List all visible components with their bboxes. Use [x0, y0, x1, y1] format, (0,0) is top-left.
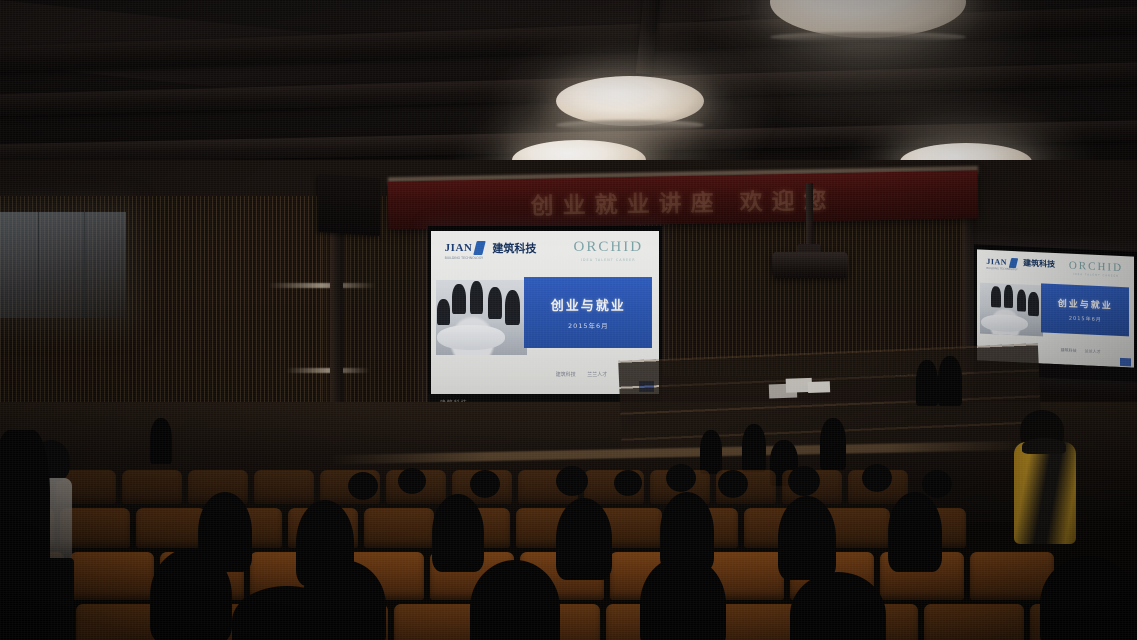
- slide-footer-side: 建筑科技 兰兰人才: [1037, 346, 1125, 356]
- jian-logo-side: JIAN 建筑科技 BUILDING TECHNOLOGY: [986, 256, 1055, 270]
- audience-person: [1040, 556, 1136, 640]
- orchid-logo: ORCHID IDEA TALENT CAREER: [574, 239, 644, 262]
- slide-footer-item: 兰兰人才: [587, 371, 607, 378]
- audience-head: [348, 472, 378, 500]
- person-silhouette: [938, 356, 962, 406]
- ceiling-projector: [772, 252, 848, 278]
- jian-logo-subtitle: BUILDING TECHNOLOGY: [986, 267, 1017, 271]
- audience-head: [556, 466, 588, 496]
- slide-footer-item: 建筑科技: [556, 371, 576, 378]
- jian-logo-mark-icon: [1009, 258, 1018, 268]
- audience-person: [150, 548, 232, 640]
- audience-head: [666, 464, 696, 492]
- stage-banner-text: 创业就业讲座 欢迎您: [388, 178, 979, 223]
- slide-date: 2015年6月: [568, 320, 609, 330]
- attendee-standing-right: [1006, 412, 1082, 562]
- attendee-standing-left-back: [0, 430, 50, 640]
- orchid-logo-word: ORCHID: [574, 239, 644, 256]
- person-silhouette: [820, 418, 846, 470]
- ceiling-light: [556, 76, 704, 126]
- orchid-logo-subtitle: IDEA TALENT CAREER: [574, 258, 644, 262]
- auditorium-photo: 创业就业讲座 欢迎您 JIAN 建筑科技 BUILDING TECHNOLOGY…: [0, 0, 1137, 640]
- slide-logo-row: JIAN 建筑科技 BUILDING TECHNOLOGY ORCHID IDE…: [431, 231, 659, 273]
- person-silhouette: [916, 360, 938, 406]
- jian-logo-subtitle: BUILDING TECHNOLOGY: [445, 256, 483, 260]
- slide-title: 创业与就业: [1058, 296, 1113, 311]
- person-silhouette: [150, 418, 172, 464]
- slide-title: 创业与就业: [551, 295, 626, 314]
- slide-title-box-side: 创业与就业 2015年6月: [1041, 283, 1129, 336]
- jian-logo-chinese: 建筑科技: [492, 240, 536, 256]
- audience-head: [398, 468, 426, 494]
- audience-person: [888, 492, 942, 572]
- jian-logo-word: JIAN: [986, 257, 1007, 267]
- jian-logo: JIAN 建筑科技 BUILDING TECHNOLOGY: [445, 240, 537, 256]
- person-silhouette: [700, 430, 722, 474]
- slide-photo: [436, 280, 527, 355]
- slide-page-marker: [1120, 358, 1131, 366]
- attendee-collar: [1022, 438, 1066, 454]
- orchid-logo-word: ORCHID: [1069, 259, 1123, 273]
- audience-person: [778, 496, 836, 580]
- orchid-logo-side: ORCHID IDEA TALENT CAREER: [1069, 259, 1123, 277]
- wall-speaker: [318, 174, 380, 236]
- slide-photo-side: [980, 283, 1043, 337]
- jian-logo-word: JIAN: [445, 242, 473, 254]
- laptop-keyboard: [808, 381, 830, 393]
- wall-light-strip: [268, 283, 376, 288]
- audience-head: [788, 466, 820, 496]
- audience-head: [862, 464, 892, 492]
- wall-light-strip: [286, 368, 370, 373]
- slide-footer-item: 建筑科技: [1061, 347, 1077, 354]
- audience-head: [470, 470, 500, 498]
- slide-logo-row-side: JIAN 建筑科技 BUILDING TECHNOLOGY ORCHID IDE…: [977, 249, 1134, 285]
- audience-head: [922, 470, 952, 498]
- slide-date: 2015年6月: [1069, 314, 1102, 322]
- slide-footer-item: 兰兰人才: [1085, 348, 1101, 355]
- audience-head: [718, 470, 748, 498]
- laptop: [786, 377, 831, 399]
- audience-person: [556, 498, 612, 580]
- slide-title-box: 创业与就业 2015年6月: [524, 277, 652, 349]
- person-silhouette: [742, 424, 766, 472]
- audience-person: [432, 494, 484, 572]
- lit-wall-panel: [0, 212, 126, 318]
- jian-logo-chinese: 建筑科技: [1023, 258, 1055, 270]
- audience-head: [614, 470, 642, 496]
- attendee-yellow-jacket: [1014, 442, 1076, 544]
- slide-photo-table: [437, 325, 504, 350]
- jian-logo-mark-icon: [474, 241, 486, 255]
